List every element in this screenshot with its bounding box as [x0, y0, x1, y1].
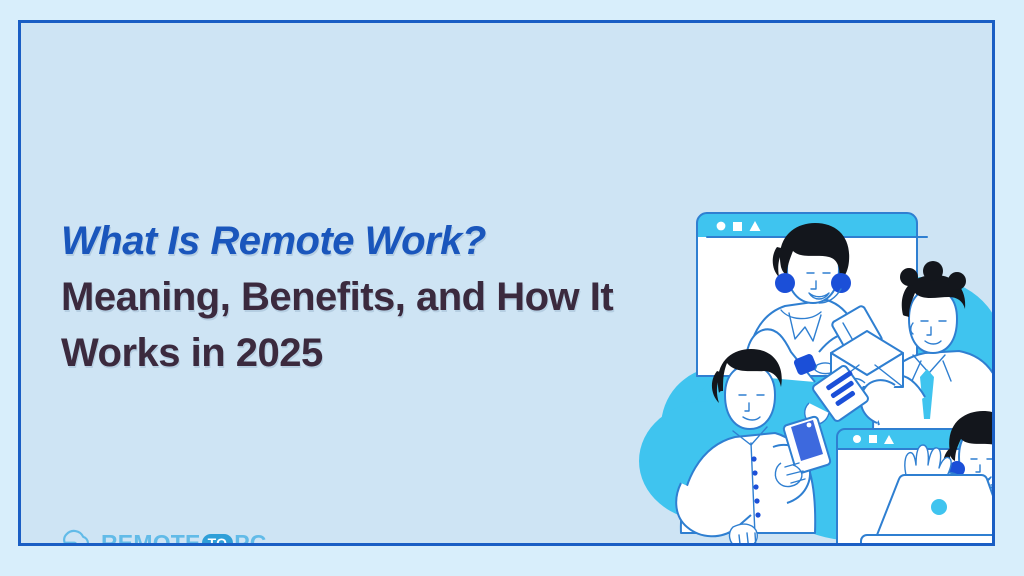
headline-line-3: Works in 2025: [61, 325, 721, 381]
brand-logo-text: REMOTETOPC: [101, 530, 267, 547]
headline-line-1: What Is Remote Work?: [61, 213, 721, 269]
square-icon: [733, 222, 742, 231]
brand-logo[interactable]: REMOTETOPC: [54, 523, 267, 546]
brand-name-part1: REMOTE: [101, 530, 201, 547]
page-title: What Is Remote Work? Meaning, Benefits, …: [61, 213, 721, 381]
headset-left: [775, 273, 795, 293]
banner-root: .ln { fill:none; stroke:#2f7fd1; stroke-…: [0, 0, 1024, 576]
laptop-window-bottom: [837, 411, 995, 546]
brand-name-part2: PC: [234, 530, 266, 547]
brand-name-badge: TO: [202, 534, 234, 546]
cloud-screens-icon: [54, 526, 94, 546]
banner-panel: .ln { fill:none; stroke:#2f7fd1; stroke-…: [18, 20, 995, 546]
headline-line-2: Meaning, Benefits, and How It: [61, 269, 721, 325]
circle-icon: [853, 435, 861, 443]
square-icon: [869, 435, 877, 443]
